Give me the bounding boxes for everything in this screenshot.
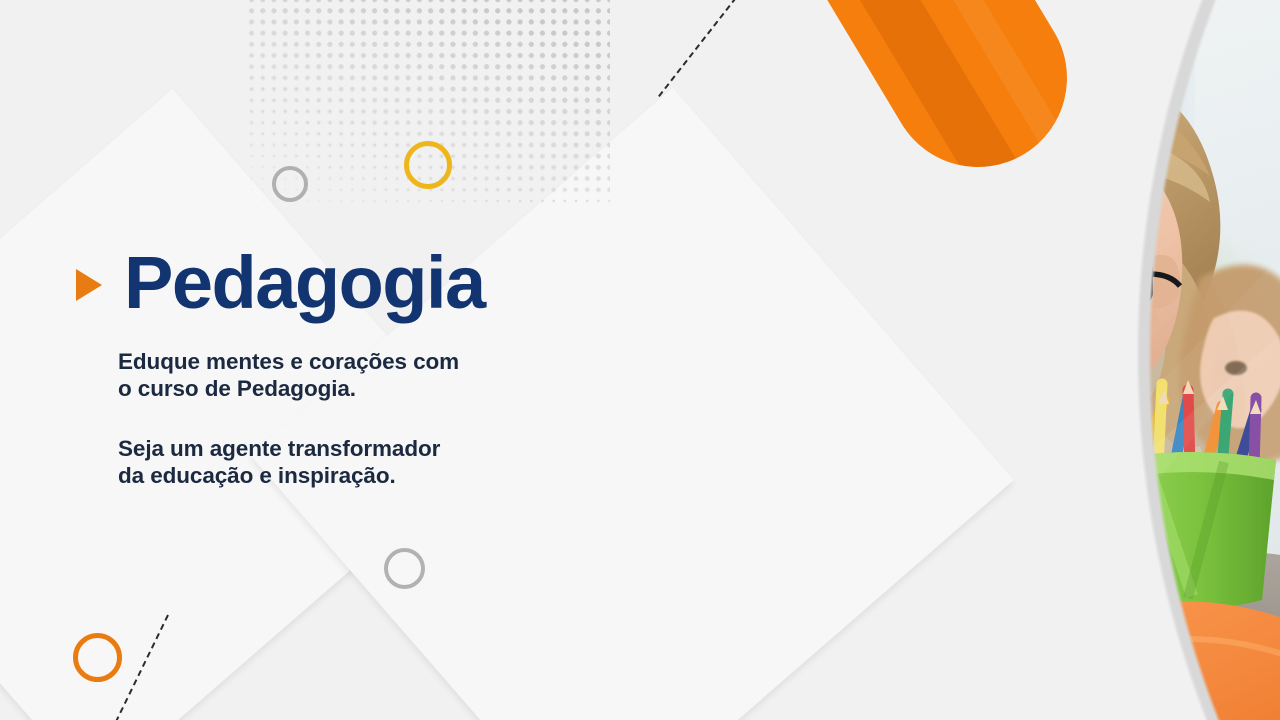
play-triangle-icon (76, 269, 102, 301)
gray-circle-outline-mid (384, 548, 425, 589)
title-row: Pedagogia (76, 248, 546, 318)
orange-blade-shape (770, 0, 1100, 200)
subtitle-paragraph-2: Seja um agente transformador da educação… (118, 435, 546, 489)
subtitle-block: Eduque mentes e corações com o curso de … (118, 348, 546, 490)
text-content: Pedagogia Eduque mentes e corações com o… (76, 248, 546, 489)
subtitle-paragraph-1: Eduque mentes e corações com o curso de … (118, 348, 546, 402)
subtitle-2-line-1: Seja um agente transformador (118, 436, 440, 461)
orange-circle-outline (73, 633, 122, 682)
subtitle-1-line-2: o curso de Pedagogia. (118, 376, 356, 401)
gray-circle-outline-top (272, 166, 308, 202)
page-title: Pedagogia (124, 248, 485, 318)
subtitle-2-line-2: da educação e inspiração. (118, 463, 396, 488)
promo-banner: Professora sorridente de óculos inclinad… (0, 0, 1280, 720)
subtitle-1-line-1: Eduque mentes e corações com (118, 349, 459, 374)
yellow-circle-outline (404, 141, 452, 189)
